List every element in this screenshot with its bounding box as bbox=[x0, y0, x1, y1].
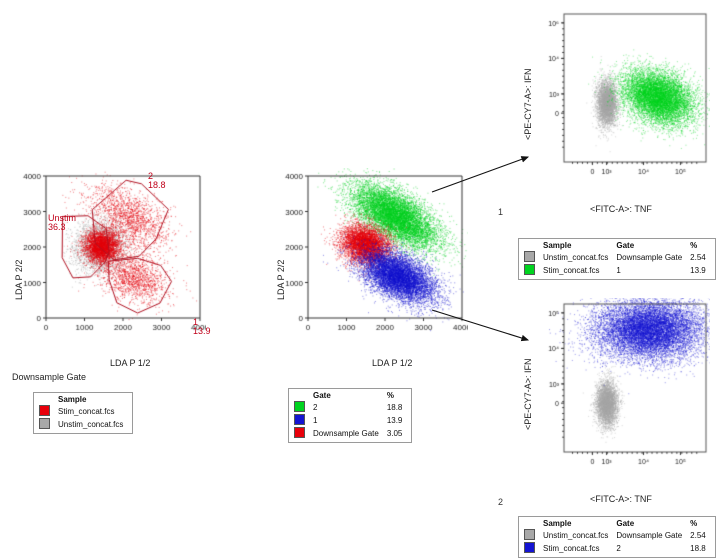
legend-header-gate-b: Gate bbox=[614, 519, 688, 529]
legend-pct-downsample: 3.05 bbox=[385, 427, 409, 440]
gate-value-1: 13.9 bbox=[193, 326, 211, 336]
legend-pct-stim-g: 13.9 bbox=[688, 264, 712, 277]
legend-tnf-ifn-blue: Sample Gate % Unstim_concat.fcs Downsamp… bbox=[518, 516, 716, 558]
lda-gated-caption: Downsample Gate bbox=[12, 372, 86, 382]
legend-gate-unstim-b: Downsample Gate bbox=[614, 529, 688, 542]
legend-pct-unstim-g: 2.54 bbox=[688, 251, 712, 264]
legend-swatch-unstim bbox=[39, 418, 50, 429]
legend-gate-2: 2 bbox=[311, 401, 385, 414]
legend-header-gate: Gate bbox=[311, 391, 385, 401]
plot-lda-gated bbox=[16, 168, 206, 348]
gate-value-unstim: 36.3 bbox=[48, 222, 66, 232]
legend-sample-stim-b: Stim_concat.fcs bbox=[541, 542, 614, 555]
legend-gate-stim-b: 2 bbox=[614, 542, 688, 555]
lda-colored-xlabel: LDA P 1/2 bbox=[372, 358, 412, 368]
legend-swatch-stim-g bbox=[524, 264, 535, 275]
tnf-ifn-green-canvas bbox=[538, 8, 710, 188]
legend-gate-downsample: Downsample Gate bbox=[311, 427, 385, 440]
tnf-ifn-blue-canvas bbox=[538, 298, 710, 478]
legend-header-gate-g: Gate bbox=[614, 241, 688, 251]
legend-header-pct: % bbox=[385, 391, 409, 401]
tnf-ifn-blue-ylabel: <PE-CY7-A>: IFN bbox=[523, 358, 533, 430]
gate-value-2: 18.8 bbox=[148, 180, 166, 190]
legend-swatch-stim-b bbox=[524, 542, 535, 553]
legend-lda-gated: Sample Stim_concat.fcs Unstim_concat.fcs bbox=[33, 392, 133, 434]
plot-lda-colored bbox=[278, 168, 468, 348]
lda-gated-xlabel: LDA P 1/2 bbox=[110, 358, 150, 368]
plot-tnf-ifn-blue bbox=[538, 298, 710, 478]
lda-colored-canvas bbox=[278, 168, 468, 348]
legend-header-sample-g: Sample bbox=[541, 241, 614, 251]
legend-sample-unstim-g: Unstim_concat.fcs bbox=[541, 251, 614, 264]
legend-swatch-downsample bbox=[294, 427, 305, 438]
lda-gated-ylabel: LDA P 2/2 bbox=[14, 260, 24, 300]
legend-header-sample: Sample bbox=[56, 395, 129, 405]
plot-index-1: 1 bbox=[498, 207, 503, 217]
gate-annotation-1: 1 13.9 bbox=[193, 318, 211, 337]
lda-colored-ylabel: LDA P 2/2 bbox=[276, 260, 286, 300]
legend-sample-unstim-b: Unstim_concat.fcs bbox=[541, 529, 614, 542]
legend-header-pct-b: % bbox=[688, 519, 712, 529]
legend-swatch-unstim-g bbox=[524, 251, 535, 262]
plot-tnf-ifn-green bbox=[538, 8, 710, 188]
tnf-ifn-green-ylabel: <PE-CY7-A>: IFN bbox=[523, 68, 533, 140]
legend-swatch-gate2 bbox=[294, 401, 305, 412]
tnf-ifn-green-xlabel: <FITC-A>: TNF bbox=[590, 204, 652, 214]
legend-pct-stim-b: 18.8 bbox=[688, 542, 712, 555]
legend-swatch-unstim-b bbox=[524, 529, 535, 540]
legend-swatch-gate1 bbox=[294, 414, 305, 425]
legend-header-pct-g: % bbox=[688, 241, 712, 251]
legend-sample-unstim: Unstim_concat.fcs bbox=[56, 418, 129, 431]
legend-pct-1: 13.9 bbox=[385, 414, 409, 427]
legend-gate-1: 1 bbox=[311, 414, 385, 427]
legend-pct-2: 18.8 bbox=[385, 401, 409, 414]
legend-swatch-stim bbox=[39, 405, 50, 416]
gate-annotation-2: 2 18.8 bbox=[148, 172, 166, 191]
legend-header-sample-b: Sample bbox=[541, 519, 614, 529]
legend-sample-stim: Stim_concat.fcs bbox=[56, 405, 129, 418]
legend-gate-unstim-g: Downsample Gate bbox=[614, 251, 688, 264]
legend-sample-stim-g: Stim_concat.fcs bbox=[541, 264, 614, 277]
lda-gated-canvas bbox=[16, 168, 206, 348]
legend-tnf-ifn-green: Sample Gate % Unstim_concat.fcs Downsamp… bbox=[518, 238, 716, 280]
plot-index-2: 2 bbox=[498, 497, 503, 507]
tnf-ifn-blue-xlabel: <FITC-A>: TNF bbox=[590, 494, 652, 504]
legend-pct-unstim-b: 2.54 bbox=[688, 529, 712, 542]
gate-annotation-unstim: Unstim 36.3 bbox=[48, 214, 76, 233]
legend-lda-colored: Gate % 2 18.8 1 13.9 Downsample Gate 3.0… bbox=[288, 388, 412, 443]
legend-gate-stim-g: 1 bbox=[614, 264, 688, 277]
